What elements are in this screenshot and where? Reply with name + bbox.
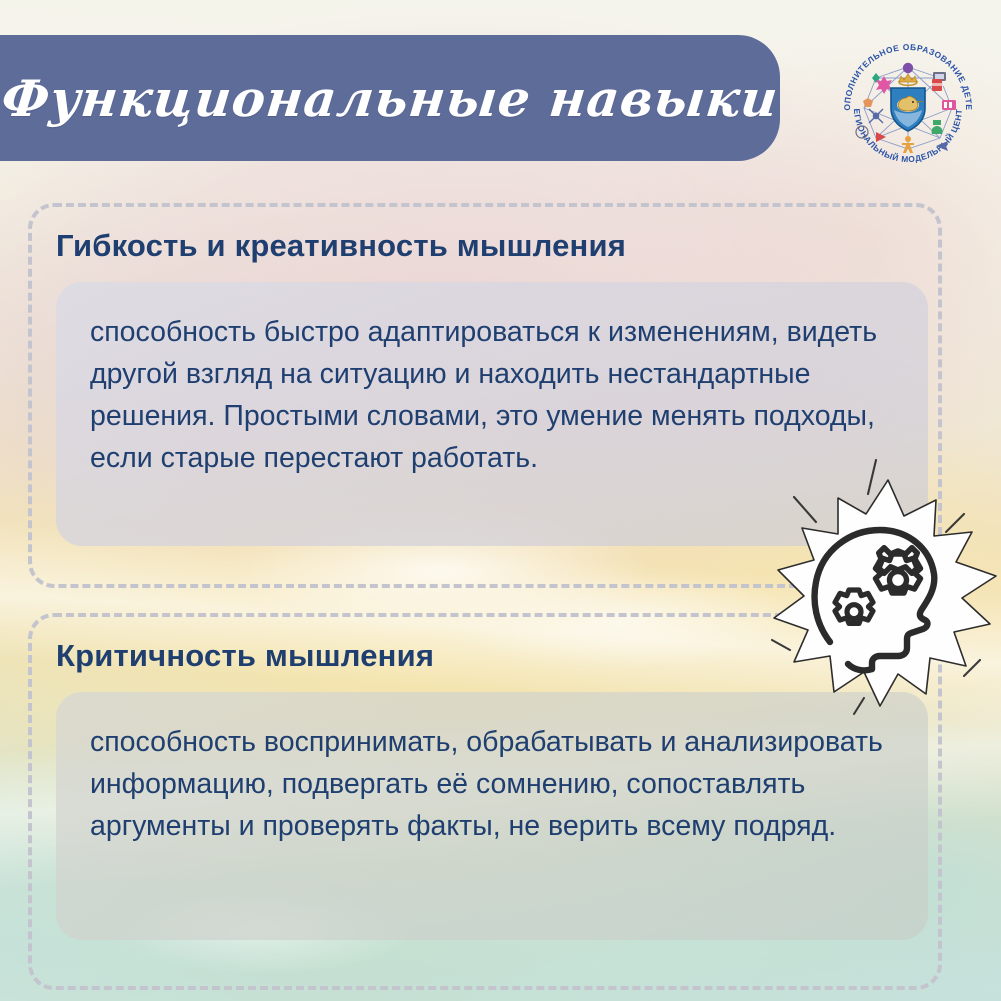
page-title: Функциональные навыки (0, 69, 781, 128)
section-1-heading: Гибкость и креативность мышления (56, 228, 930, 264)
section-2-panel: способность воспринимать, обрабатывать и… (56, 692, 928, 940)
organization-logo: ДОПОЛНИТЕЛЬНОЕ ОБРАЗОВАНИЕ ДЕТЕЙ РЕГИОНА… (832, 28, 984, 180)
section-2-body-text: способность воспринимать, обрабатывать и… (90, 722, 894, 848)
title-banner: Функциональные навыки (0, 35, 780, 161)
head-with-gears-icon (768, 452, 1001, 724)
